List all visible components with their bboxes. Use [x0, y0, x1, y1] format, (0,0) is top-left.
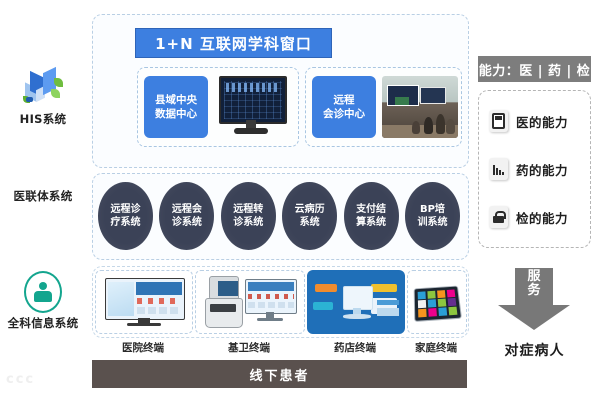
- conference-room-photo: [382, 76, 458, 138]
- offline-patients-bar: 线下患者: [92, 360, 467, 388]
- system-ellipse[interactable]: BP培训系统: [405, 182, 460, 250]
- sidebar: HIS系统 医联体系统 全科信息系统: [0, 0, 86, 400]
- remote-consultation-label: 远程会诊中心: [312, 76, 376, 138]
- clipboard-icon: [489, 110, 508, 132]
- terminal-label: 药店终端: [307, 340, 403, 355]
- capability-item-medical[interactable]: 医的能力: [479, 110, 590, 132]
- capability-label: 检的能力: [516, 208, 568, 227]
- capability-panel: 医的能力 药的能力 检的能力: [478, 90, 591, 248]
- destination-label: 对症病人: [478, 340, 591, 360]
- service-arrow: 服 务: [498, 268, 570, 330]
- system-ellipse[interactable]: 远程会诊系统: [159, 182, 214, 250]
- arrow-label-line2: 务: [527, 284, 540, 298]
- sidebar-item-general-practice[interactable]: 全科信息系统: [0, 272, 86, 331]
- watermark: ccc: [6, 372, 35, 387]
- terminal-card-community[interactable]: [195, 270, 305, 334]
- sidebar-item-label: 全科信息系统: [0, 315, 86, 331]
- tablet-icon: [414, 282, 460, 322]
- remote-consultation-card[interactable]: 远程会诊中心: [305, 67, 462, 147]
- system-ellipse[interactable]: 远程转诊系统: [221, 182, 276, 250]
- sidebar-item-his[interactable]: HIS系统: [0, 68, 86, 127]
- pharmacy-diagram-icon: [313, 276, 399, 328]
- system-ellipse-row: 远程诊疗系统 远程会诊系统 远程转诊系统 云病历系统 支付结算系统 BP培训系统: [98, 180, 460, 252]
- pc-monitor-icon: [245, 279, 295, 325]
- capability-item-pharmacy[interactable]: 药的能力: [479, 158, 590, 180]
- system-ellipse[interactable]: 支付结算系统: [344, 182, 399, 250]
- system-ellipse[interactable]: 云病历系统: [282, 182, 337, 250]
- capability-label: 医的能力: [516, 112, 568, 131]
- terminal-card-hospital[interactable]: [95, 270, 193, 334]
- capability-header: 能力：医 | 药 | 检: [478, 56, 591, 82]
- person-circle-icon: [0, 272, 86, 312]
- terminal-label: 基卫终端: [195, 340, 303, 355]
- internet-discipline-window-banner: 1+N 互联网学科窗口: [135, 28, 332, 58]
- terminal-label: 家庭终端: [402, 340, 470, 355]
- terminal-card-pharmacy[interactable]: [307, 270, 405, 334]
- sidebar-item-alliance[interactable]: 医联体系统: [0, 188, 86, 204]
- system-ellipse[interactable]: 远程诊疗系统: [98, 182, 153, 250]
- sidebar-item-label: HIS系统: [0, 111, 86, 127]
- sidebar-item-label: 医联体系统: [0, 188, 86, 204]
- isometric-building-icon: [0, 68, 86, 108]
- terminal-card-home[interactable]: [407, 270, 467, 334]
- lock-icon: [489, 206, 508, 228]
- capability-item-inspection[interactable]: 检的能力: [479, 206, 590, 228]
- data-center-label: 县域中央数据中心: [144, 76, 208, 138]
- desktop-monitor-icon: [213, 74, 291, 140]
- capability-label: 药的能力: [516, 160, 568, 179]
- bar-chart-icon: [489, 158, 508, 180]
- data-center-card[interactable]: 县域中央数据中心: [137, 67, 299, 147]
- terminal-label: 医院终端: [95, 340, 191, 355]
- diagram-canvas: HIS系统 医联体系统 全科信息系统 1+N 互联网学科窗口 县域中央数据中心 …: [0, 0, 600, 400]
- kiosk-icon: [205, 276, 241, 328]
- hospital-tv-icon: [105, 278, 183, 326]
